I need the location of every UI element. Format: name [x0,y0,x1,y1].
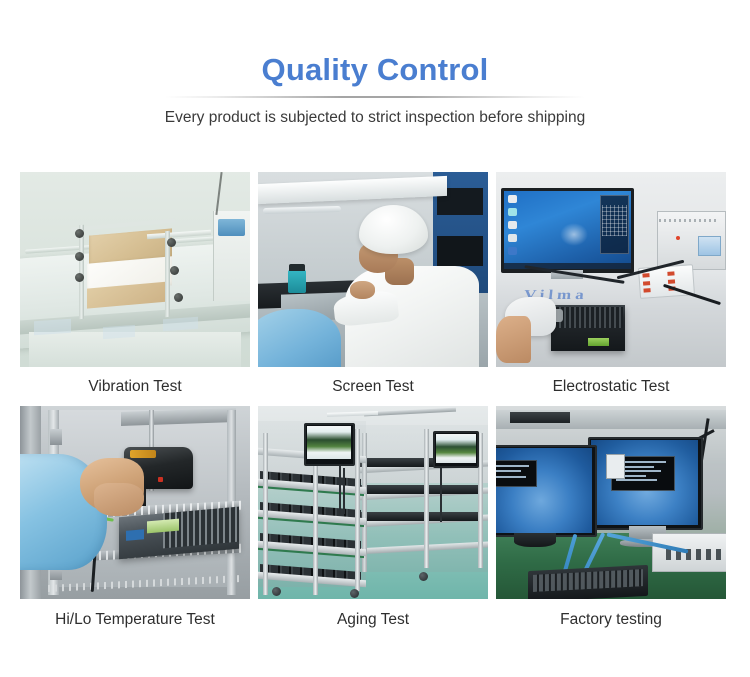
caption-factory-testing: Factory testing [496,599,726,639]
device-port [126,529,144,540]
caption-hi-lo-temperature-test: Hi/Lo Temperature Test [20,599,250,639]
cable [343,468,345,514]
foreground-worker-blue-gown [258,309,341,368]
clamp-post-left [79,224,84,318]
rack-post [263,433,268,595]
windows-taskbar [504,263,631,269]
terminal-text-line [496,476,526,478]
gallery-row-2: Hi/Lo Temperature Test [20,406,726,639]
desktop-icon [508,247,517,255]
desktop-icon-column [508,195,520,246]
gallery-item-screen-test[interactable]: Screen Test [258,172,488,406]
cable [440,464,442,522]
table-marking [103,325,135,339]
worker-hand [350,281,375,299]
screen-test-scene [258,172,488,367]
generator-display-panel [698,236,721,256]
socket [643,288,650,292]
hi-lo-temperature-test-scene [20,406,250,599]
monitor-left-stand [514,533,555,547]
devices-row [359,485,483,494]
vibration-table-base [29,332,241,367]
socket [643,281,650,285]
terminal-text-line [496,465,529,467]
device-status-display [588,338,609,346]
terminal-window-left [496,460,537,487]
operator-fingers [94,483,145,516]
clamp-knob [174,293,183,302]
gallery-item-aging-test[interactable]: Aging Test [258,406,488,639]
gallery-item-electrostatic-test[interactable]: Vilma [496,172,726,406]
desktop-icon [508,208,517,216]
rack-caster [419,572,428,581]
calendar-grid [602,205,627,236]
aging-test-photo[interactable] [258,406,488,599]
bottle-cap [289,264,305,272]
socket [667,271,674,275]
tool-indicator [158,477,163,482]
title-divider [165,96,585,98]
caption-aging-test: Aging Test [258,599,488,639]
vibration-test-photo[interactable] [20,172,250,367]
operator-hand [496,316,531,363]
rack-monitor-front-screen [307,426,351,459]
hi-lo-temperature-test-photo[interactable] [20,406,250,599]
terminal-text-line [616,479,657,481]
page-header: Quality Control Every product is subject… [0,0,750,127]
screen-test-photo[interactable] [258,172,488,367]
heatsink-fins [554,307,623,328]
desktop-icon [508,195,517,203]
shelf-sign [510,412,570,424]
socket [642,273,649,277]
socket [667,279,674,283]
terminal-text-line [496,470,521,472]
clamp-knob [75,229,84,238]
factory-testing-photo[interactable] [496,406,726,599]
generator-vent [659,219,719,222]
control-panel-display [218,219,246,237]
rack-post [478,433,483,568]
page-subtitle: Every product is subjected to strict ins… [0,109,750,127]
shelf-contents [437,236,483,265]
gallery-item-factory-testing[interactable]: Factory testing [496,406,726,639]
desktop-icon [508,234,517,242]
aging-test-scene [258,406,488,599]
cable [339,464,341,514]
gallery-item-hi-lo-temperature-test[interactable]: Hi/Lo Temperature Test [20,406,250,639]
gallery-item-vibration-test[interactable]: Vibration Test [20,172,250,406]
shelf-bracket [50,429,62,445]
windows-wallpaper-logo-icon [560,223,588,246]
rack-monitor-rear-screen [436,434,476,463]
caption-screen-test: Screen Test [258,367,488,406]
quality-control-gallery: Vibration Test [20,172,726,639]
caption-vibration-test: Vibration Test [20,367,250,406]
desktop-icon [508,221,517,229]
electrostatic-test-photo[interactable]: Vilma [496,172,726,367]
electrostatic-test-scene: Vilma [496,172,726,367]
context-menu-right [606,454,624,479]
caption-electrostatic-test: Electrostatic Test [496,367,726,406]
rack-post [355,429,360,591]
tool-accent-stripe [130,450,155,458]
devices-row [359,512,483,521]
factory-testing-scene [496,406,726,599]
solvent-bottle [288,270,306,293]
table-marking [34,319,71,335]
quality-control-page: Quality Control Every product is subject… [0,0,750,677]
vibration-test-scene [20,172,250,367]
page-title: Quality Control [0,54,750,87]
rack-post [424,429,429,568]
gallery-row-1: Vibration Test [20,172,726,406]
clamp-knob [170,266,179,275]
